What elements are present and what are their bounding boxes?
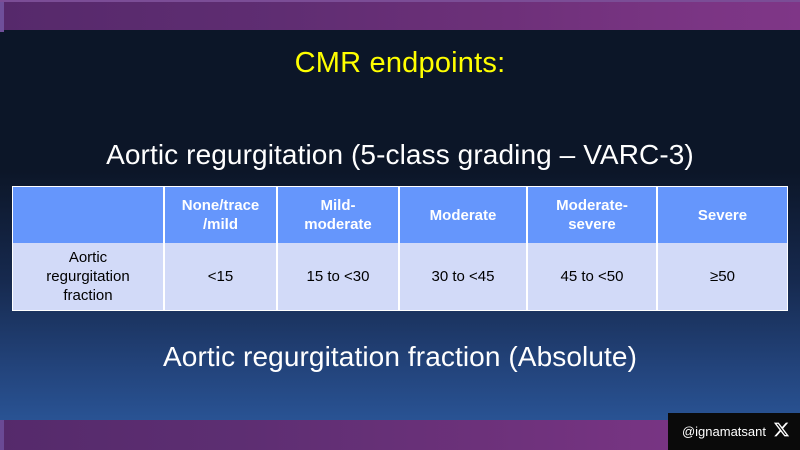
footer-caption: Aortic regurgitation fraction (Absolute) [0, 340, 800, 374]
table-header: None/trace /mild Mild- moderate Moderate… [13, 187, 787, 243]
aortic-regurgitation-grading-table: None/trace /mild Mild- moderate Moderate… [13, 187, 787, 310]
row-label-aortic-regurgitation-fraction: Aortic regurgitation fraction [13, 243, 165, 310]
cell-moderate-severe-value: 45 to <50 [528, 243, 658, 310]
table-header-row: None/trace /mild Mild- moderate Moderate… [13, 187, 787, 243]
header-line-1: Severe [698, 207, 747, 224]
header-line-2: /mild [203, 216, 238, 233]
row-label-line-2: regurgitation [46, 268, 129, 285]
cell-moderate-value: 30 to <45 [400, 243, 528, 310]
table-body: Aortic regurgitation fraction <15 15 to … [13, 243, 787, 310]
cell-severe-value: ≥50 [658, 243, 787, 310]
section-heading: Aortic regurgitation (5-class grading – … [0, 138, 800, 172]
header-cell-moderate-severe: Moderate- severe [528, 187, 658, 243]
cell-none-trace-mild-value: <15 [165, 243, 278, 310]
header-cell-blank [13, 187, 165, 243]
watermark-handle: @ignamatsant [682, 424, 766, 439]
watermark-badge: @ignamatsant [668, 413, 800, 450]
top-decorative-bar [0, 0, 800, 30]
header-line-1: Moderate- [556, 197, 628, 214]
x-logo-icon [773, 421, 790, 443]
page-title: CMR endpoints: [0, 46, 800, 80]
header-line-1: None/trace [182, 197, 260, 214]
header-line-2: moderate [304, 216, 372, 233]
slide-canvas: CMR endpoints: Aortic regurgitation (5-c… [0, 0, 800, 450]
header-cell-moderate: Moderate [400, 187, 528, 243]
row-label-line-3: fraction [63, 287, 112, 304]
header-line-2: severe [568, 216, 616, 233]
row-label-line-1: Aortic [69, 249, 107, 266]
header-cell-none-trace-mild: None/trace /mild [165, 187, 278, 243]
header-line-1: Mild- [321, 197, 356, 214]
cell-mild-moderate-value: 15 to <30 [278, 243, 400, 310]
header-cell-severe: Severe [658, 187, 787, 243]
header-line-1: Moderate [430, 207, 497, 224]
header-cell-mild-moderate: Mild- moderate [278, 187, 400, 243]
table-row: Aortic regurgitation fraction <15 15 to … [13, 243, 787, 310]
